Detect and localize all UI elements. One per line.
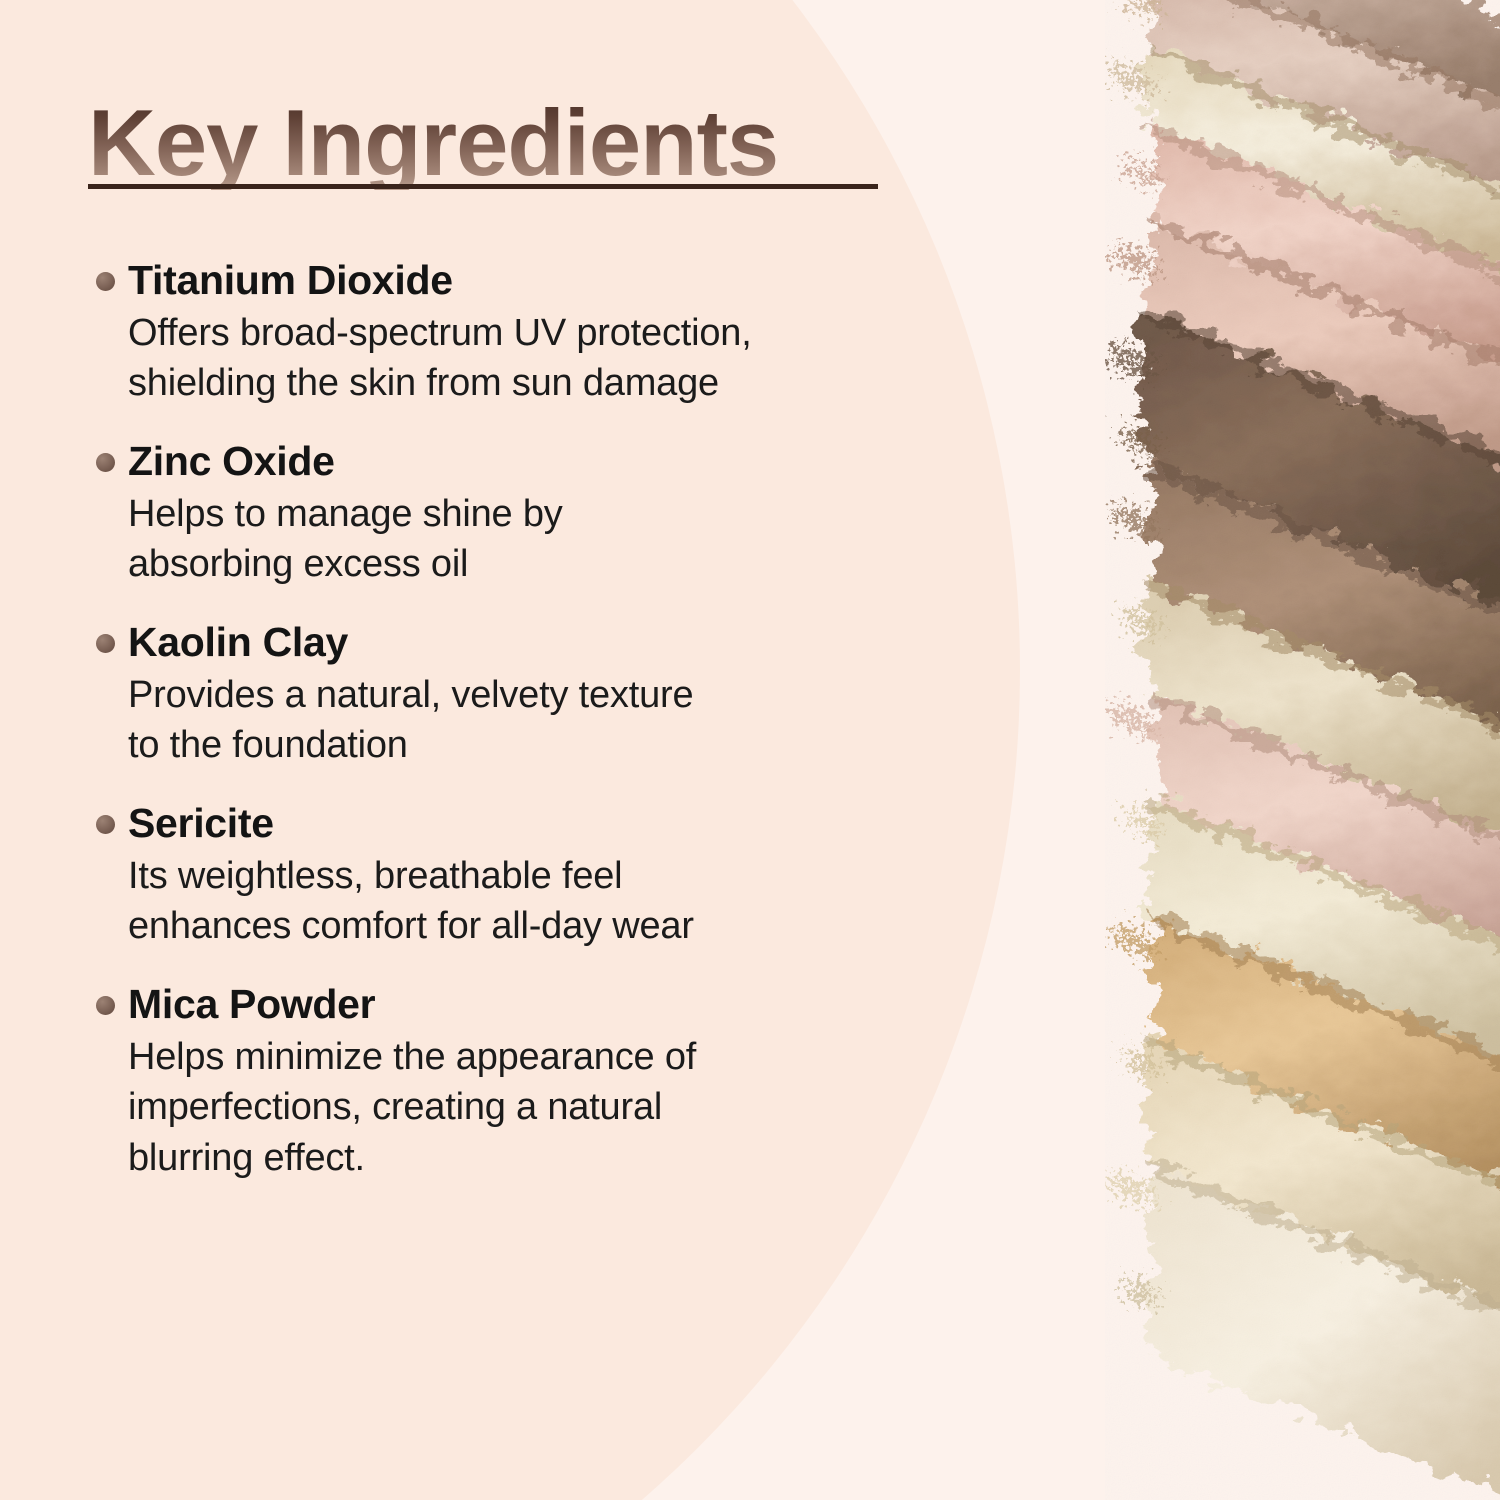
ingredients-list: Titanium Dioxide Offers broad-spectrum U… [0, 258, 1010, 1213]
product-powder-image [1105, 0, 1500, 1500]
content-column: Key Ingredients Titanium Dioxide Offers … [0, 0, 1010, 1500]
bullet-dot-icon [96, 272, 115, 291]
bullet-dot-icon [96, 634, 115, 653]
ingredient-item: Kaolin Clay Provides a natural, velvety … [0, 620, 1010, 771]
ingredient-description: Helps minimize the appearance of imperfe… [128, 1032, 1010, 1184]
ingredient-item: Titanium Dioxide Offers broad-spectrum U… [0, 258, 1010, 409]
bullet-dot-icon [96, 996, 115, 1015]
ingredient-description: Offers broad-spectrum UV protection, shi… [128, 308, 1010, 409]
ingredient-item: Mica Powder Helps minimize the appearanc… [0, 982, 1010, 1184]
ingredient-name: Sericite [128, 801, 1010, 847]
bullet-dot-icon [96, 815, 115, 834]
infographic-page: Key Ingredients Titanium Dioxide Offers … [0, 0, 1500, 1500]
ingredient-name: Kaolin Clay [128, 620, 1010, 666]
ingredient-description: Provides a natural, velvety texture to t… [128, 670, 1010, 771]
ingredient-name: Titanium Dioxide [128, 258, 1010, 304]
ingredient-item: Sericite Its weightless, breathable feel… [0, 801, 1010, 952]
ingredient-description: Its weightless, breathable feel enhances… [128, 851, 1010, 952]
ingredient-description: Helps to manage shine by absorbing exces… [128, 489, 1010, 590]
ingredient-name: Mica Powder [128, 982, 1010, 1028]
page-title-block: Key Ingredients [88, 96, 778, 190]
ingredient-item: Zinc Oxide Helps to manage shine by abso… [0, 439, 1010, 590]
bullet-dot-icon [96, 453, 115, 472]
page-title: Key Ingredients [88, 96, 778, 190]
ingredient-name: Zinc Oxide [128, 439, 1010, 485]
page-title-underline [88, 184, 878, 189]
